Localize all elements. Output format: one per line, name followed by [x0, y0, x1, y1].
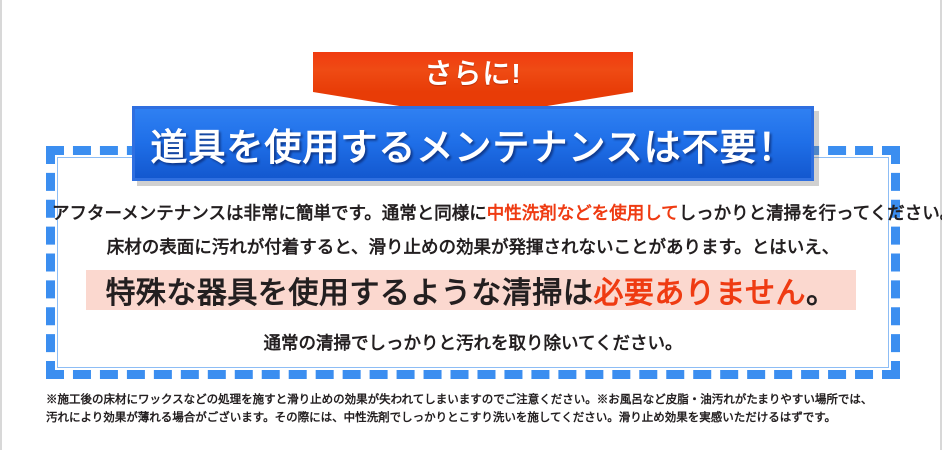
headline-text: 道具を使用するメンテナンスは不要！: [150, 117, 795, 171]
emphasis-text: 特殊な器具を使用するような清掃は必要ありません。: [105, 268, 836, 312]
footnote-line-2: 汚れにより効果が薄れる場合がございます。その際には、中性洗剤でしっかりとこすり洗…: [46, 410, 902, 428]
body-line-1-part-2: しっかりと清掃を行ってください。: [679, 203, 942, 223]
ribbon-banner: さらに!: [2, 52, 940, 110]
emphasis-highlight-bar: 特殊な器具を使用するような清掃は必要ありません。: [86, 270, 856, 310]
emphasis-part-2: 。: [806, 277, 837, 310]
footnote-block: ※施工後の床材にワックスなどの処理を施すと滑り止めの効果が失われてしまいますので…: [46, 392, 902, 428]
closing-line: 通常の清掃でしっかりと汚れを取り除いてください。: [52, 330, 894, 355]
body-line-1-highlight: 中性洗剤などを使用して: [487, 203, 679, 223]
emphasis-part-1: 特殊な器具を使用するような清掃は: [105, 277, 593, 310]
ribbon-label: さらに!: [313, 52, 633, 96]
headline-banner: 道具を使用するメンテナンスは不要！: [132, 106, 814, 181]
body-line-1: アフターメンテナンスは非常に簡単です。通常と同様に中性洗剤などを使用してしっかり…: [52, 200, 894, 225]
page-container: さらに! 道具を使用するメンテナンスは不要！ アフターメンテナンスは非常に簡単で…: [0, 0, 942, 450]
body-copy: アフターメンテナンスは非常に簡単です。通常と同様に中性洗剤などを使用してしっかり…: [52, 200, 894, 259]
body-line-2: 床材の表面に汚れが付着すると、滑り止めの効果が発揮されないことがあります。とはい…: [52, 234, 894, 259]
footnote-line-1: ※施工後の床材にワックスなどの処理を施すと滑り止めの効果が失われてしまいますので…: [46, 394, 872, 406]
body-line-1-part-1: アフターメンテナンスは非常に簡単です。通常と同様に: [52, 203, 487, 223]
emphasis-red-text: 必要ありません: [593, 277, 806, 310]
